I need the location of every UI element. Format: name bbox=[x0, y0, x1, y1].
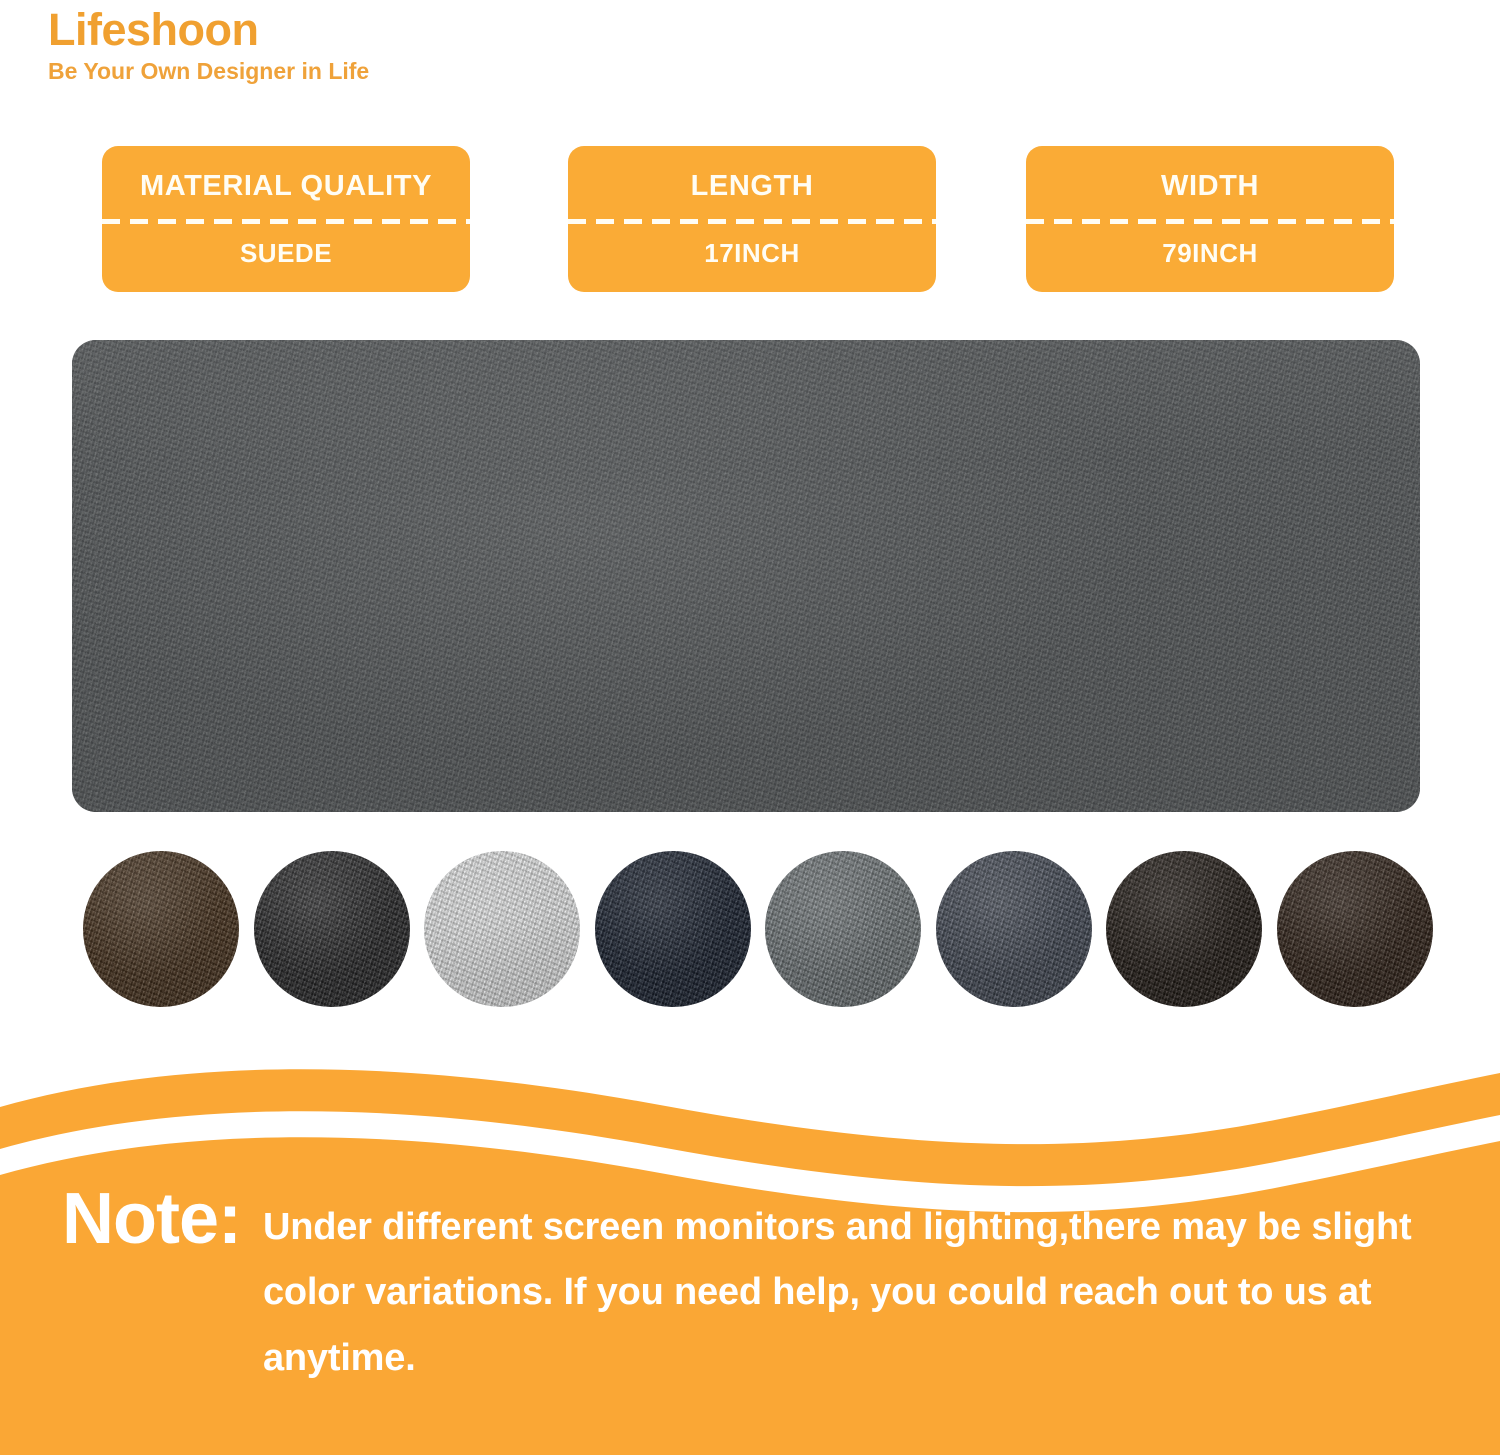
swatch-sheen bbox=[765, 851, 921, 1007]
spec-title: LENGTH bbox=[691, 172, 814, 201]
swatch-sheen bbox=[595, 851, 751, 1007]
spec-value: 79INCH bbox=[1162, 240, 1257, 266]
dashed-divider bbox=[102, 219, 470, 224]
spec-badge-length: LENGTH 17INCH bbox=[568, 146, 936, 292]
product-image-rug bbox=[72, 340, 1420, 812]
color-swatch-navy-blue[interactable] bbox=[595, 851, 751, 1007]
note-label: Note: bbox=[62, 1183, 241, 1255]
color-swatch-dark-brown[interactable] bbox=[83, 851, 239, 1007]
note-content: Note: Under different screen monitors an… bbox=[0, 1183, 1500, 1391]
swatch-sheen bbox=[1106, 851, 1262, 1007]
brand-header: Lifeshoon Be Your Own Designer in Life bbox=[48, 6, 748, 85]
spec-value: SUEDE bbox=[240, 240, 332, 266]
spec-title: WIDTH bbox=[1161, 172, 1259, 201]
dashed-divider bbox=[568, 219, 936, 224]
swatch-sheen bbox=[1277, 851, 1433, 1007]
spec-title: MATERIAL QUALITY bbox=[140, 172, 432, 201]
color-swatch-medium-grey[interactable] bbox=[765, 851, 921, 1007]
color-swatch-ivory-white[interactable] bbox=[424, 851, 580, 1007]
brand-tagline: Be Your Own Designer in Life bbox=[48, 59, 748, 84]
color-swatch-coffee-brown[interactable] bbox=[1277, 851, 1433, 1007]
color-swatch-slate-blue-grey[interactable] bbox=[936, 851, 1092, 1007]
swatch-sheen bbox=[254, 851, 410, 1007]
swatch-sheen bbox=[424, 851, 580, 1007]
rug-sheen bbox=[72, 340, 1420, 812]
spec-badge-row: MATERIAL QUALITY SUEDE LENGTH 17INCH WID… bbox=[0, 146, 1500, 292]
color-swatch-row bbox=[0, 851, 1500, 1009]
note-body-text: Under different screen monitors and ligh… bbox=[263, 1183, 1440, 1391]
spec-value: 17INCH bbox=[704, 240, 799, 266]
brand-name: Lifeshoon bbox=[48, 6, 748, 53]
color-swatch-charcoal-black[interactable] bbox=[254, 851, 410, 1007]
swatch-sheen bbox=[83, 851, 239, 1007]
dashed-divider bbox=[1026, 219, 1394, 224]
spec-badge-material-quality: MATERIAL QUALITY SUEDE bbox=[102, 146, 470, 292]
spec-badge-width: WIDTH 79INCH bbox=[1026, 146, 1394, 292]
note-section: Note: Under different screen monitors an… bbox=[0, 1063, 1500, 1455]
product-infographic: Lifeshoon Be Your Own Designer in Life M… bbox=[0, 0, 1500, 1455]
color-swatch-espresso-black[interactable] bbox=[1106, 851, 1262, 1007]
swatch-sheen bbox=[936, 851, 1092, 1007]
